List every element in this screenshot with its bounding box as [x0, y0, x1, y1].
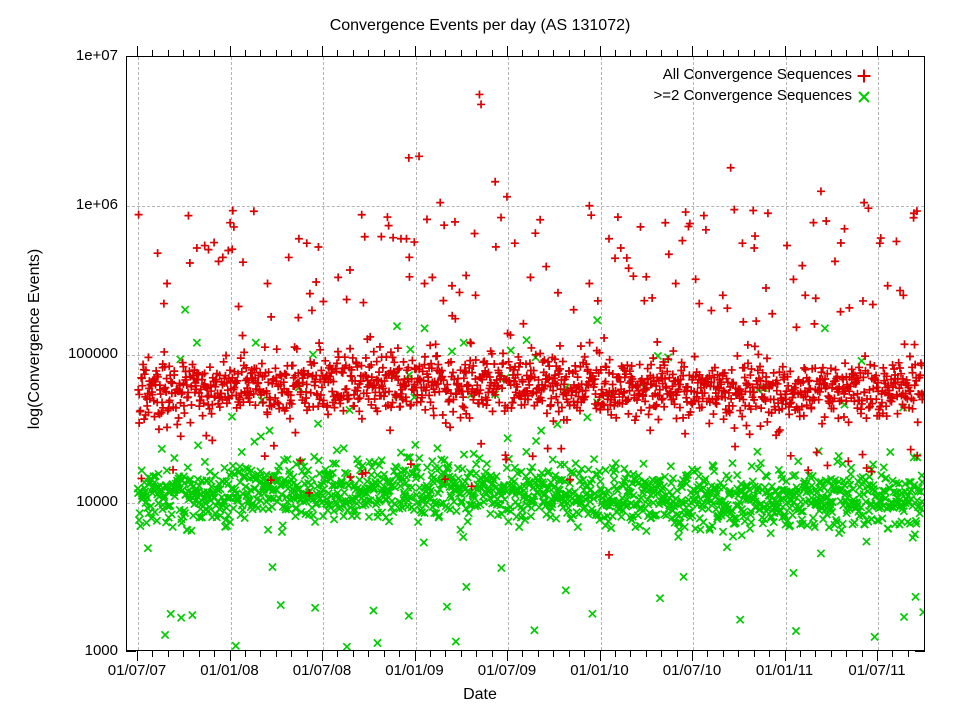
data-point-cross: [184, 464, 191, 471]
data-point-plus: [768, 310, 776, 318]
data-point-plus: [763, 418, 771, 426]
data-point-plus: [914, 418, 922, 426]
data-point-plus: [557, 445, 565, 453]
data-point-cross: [611, 476, 618, 483]
data-point-plus: [180, 409, 188, 417]
data-point-plus: [749, 207, 757, 215]
x-tick-minor: [553, 651, 554, 657]
data-point-plus: [436, 199, 444, 207]
data-point-plus: [629, 272, 637, 280]
x-tick-minor: [584, 651, 585, 657]
x-tick-minor: [183, 651, 184, 657]
y-tick-major: [126, 651, 136, 652]
data-point-plus: [869, 300, 877, 308]
data-point-plus: [415, 152, 423, 160]
x-tick-major: [507, 46, 508, 56]
data-point-plus: [812, 294, 820, 302]
x-tick-major: [785, 651, 786, 661]
data-point-plus: [785, 410, 793, 418]
data-point-plus: [606, 356, 614, 364]
data-point-plus: [489, 407, 497, 415]
x-tick-minor: [152, 651, 153, 657]
data-point-plus: [789, 275, 797, 283]
data-point-plus: [756, 422, 764, 430]
data-point-plus: [822, 217, 830, 225]
data-point-plus: [681, 430, 689, 438]
data-point-plus: [672, 280, 680, 288]
data-point-plus: [605, 551, 613, 559]
data-point-cross: [821, 325, 828, 332]
data-point-plus: [691, 353, 699, 361]
data-point-plus: [752, 317, 760, 325]
data-point-plus: [135, 211, 143, 219]
data-point-plus: [594, 297, 602, 305]
x-tick-major: [600, 46, 601, 56]
data-point-plus: [751, 232, 759, 240]
data-point-plus: [738, 239, 746, 247]
data-point-plus: [228, 245, 236, 253]
data-point-plus: [405, 154, 413, 162]
data-point-plus: [859, 297, 867, 305]
data-point-cross: [561, 461, 568, 468]
data-point-cross: [594, 317, 601, 324]
data-point-cross: [144, 545, 151, 552]
data-point-plus: [358, 415, 366, 423]
data-point-plus: [819, 364, 827, 372]
data-point-plus: [291, 429, 299, 437]
data-point-plus: [140, 415, 148, 423]
data-point-plus: [170, 367, 178, 375]
data-point-plus: [446, 423, 454, 431]
x-tick-major: [415, 46, 416, 56]
chart-legend: All Convergence Sequences >=2 Convergenc…: [560, 66, 900, 108]
data-point-plus: [736, 407, 744, 415]
data-point-plus: [400, 358, 408, 366]
data-point-plus: [267, 313, 275, 321]
data-point-cross: [863, 538, 870, 545]
data-point-cross: [178, 614, 185, 621]
data-point-plus: [514, 353, 522, 361]
data-point-cross: [792, 627, 799, 634]
data-point-plus: [317, 366, 325, 374]
x-tick-major: [137, 651, 138, 661]
data-point-cross: [412, 441, 419, 448]
data-point-cross: [182, 306, 189, 313]
y-tick-label: 1e+07: [0, 47, 118, 64]
x-tick-major: [600, 651, 601, 661]
x-tick-minor: [846, 651, 847, 657]
data-point-plus: [810, 320, 818, 328]
data-point-plus: [295, 235, 303, 243]
data-point-plus: [314, 243, 322, 251]
data-point-plus: [653, 338, 661, 346]
data-point-cross: [448, 348, 455, 355]
data-point-cross: [463, 583, 470, 590]
data-point-plus: [739, 396, 747, 404]
data-point-plus: [640, 297, 648, 305]
data-point-cross: [312, 604, 319, 611]
x-tick-minor: [353, 651, 354, 657]
data-point-plus: [801, 291, 809, 299]
data-point-cross: [279, 522, 286, 529]
data-point-cross: [314, 420, 321, 427]
x-tick-minor: [168, 651, 169, 657]
chart-title: Convergence Events per day (AS 131072): [0, 17, 960, 35]
data-point-cross: [746, 525, 753, 532]
data-point-cross: [602, 466, 609, 473]
data-point-plus: [258, 360, 266, 368]
x-tick-minor: [800, 651, 801, 657]
data-point-plus: [460, 404, 468, 412]
data-point-cross: [562, 587, 569, 594]
data-point-cross: [553, 515, 560, 522]
data-point-plus: [654, 415, 662, 423]
data-point-cross: [264, 526, 271, 533]
data-point-plus: [554, 289, 562, 297]
y-axis-label: log(Convergence Events): [26, 159, 44, 519]
data-point-plus: [911, 341, 919, 349]
data-point-cross: [748, 463, 755, 470]
data-point-plus: [742, 422, 750, 430]
data-point-plus: [636, 223, 644, 231]
data-point-plus: [499, 349, 507, 357]
data-point-plus: [379, 364, 387, 372]
data-point-plus: [226, 219, 234, 227]
data-point-plus: [355, 407, 363, 415]
data-point-plus: [841, 359, 849, 367]
data-point-plus: [682, 208, 690, 216]
x-tick-minor: [569, 651, 570, 657]
data-point-plus: [861, 352, 869, 360]
data-point-plus: [163, 280, 171, 288]
data-point-plus: [394, 344, 402, 352]
data-point-plus: [160, 348, 168, 356]
data-point-plus: [155, 425, 163, 433]
data-point-plus: [433, 352, 441, 360]
data-point-plus: [386, 426, 394, 434]
data-point-plus: [405, 273, 413, 281]
data-point-plus: [509, 399, 517, 407]
scatter-chart: Convergence Events per day (AS 131072) l…: [0, 0, 960, 720]
x-tick-minor: [307, 651, 308, 657]
data-point-plus: [428, 273, 436, 281]
data-point-plus: [136, 407, 144, 415]
data-point-cross: [738, 532, 745, 539]
data-point-cross: [729, 533, 736, 540]
data-point-plus: [559, 357, 567, 365]
data-point-cross: [590, 456, 597, 463]
data-point-plus: [750, 244, 758, 252]
data-points-layer: [127, 57, 925, 651]
data-point-cross: [504, 435, 511, 442]
data-point-plus: [143, 402, 151, 410]
data-point-cross: [767, 530, 774, 537]
data-point-cross: [343, 643, 350, 650]
data-point-cross: [333, 447, 340, 454]
data-point-plus: [628, 362, 636, 370]
data-point-plus: [585, 202, 593, 210]
data-point-plus: [396, 403, 404, 411]
data-point-cross: [719, 528, 726, 535]
data-point-plus: [321, 357, 329, 365]
data-point-plus: [346, 266, 354, 274]
data-point-cross: [252, 339, 259, 346]
data-point-plus: [792, 323, 800, 331]
data-point-plus: [705, 419, 713, 427]
data-point-cross: [221, 464, 228, 471]
data-point-cross: [385, 518, 392, 525]
data-point-plus: [229, 207, 237, 215]
data-point-plus: [614, 213, 622, 221]
data-point-cross: [885, 525, 892, 532]
data-point-cross: [754, 448, 761, 455]
data-point-plus: [187, 401, 195, 409]
data-point-cross: [464, 518, 471, 525]
data-point-plus: [731, 443, 739, 451]
data-point-plus: [611, 254, 619, 262]
data-point-cross: [835, 452, 842, 459]
data-point-plus: [840, 413, 848, 421]
data-point-plus: [358, 211, 366, 219]
data-point-plus: [605, 235, 613, 243]
data-point-plus: [762, 284, 770, 292]
x-tick-minor: [492, 651, 493, 657]
data-point-plus: [370, 348, 378, 356]
data-point-plus: [730, 424, 738, 432]
data-point-plus: [859, 451, 867, 459]
data-point-cross: [228, 413, 235, 420]
data-point-plus: [160, 300, 168, 308]
data-point-plus: [642, 273, 650, 281]
data-point-cross: [505, 518, 512, 525]
x-tick-minor: [260, 651, 261, 657]
data-point-cross: [230, 505, 237, 512]
data-point-plus: [492, 243, 500, 251]
data-point-plus: [700, 212, 708, 220]
data-point-plus: [516, 359, 524, 367]
data-point-plus: [545, 362, 553, 370]
data-point-plus: [306, 290, 314, 298]
data-point-plus: [570, 306, 578, 314]
data-point-cross: [365, 513, 372, 520]
data-point-plus: [208, 436, 216, 444]
data-point-plus: [303, 239, 311, 247]
data-point-cross: [597, 478, 604, 485]
data-point-plus: [175, 414, 183, 422]
x-tick-minor: [646, 651, 647, 657]
x-tick-minor: [384, 651, 385, 657]
data-point-cross: [194, 442, 201, 449]
data-point-plus: [738, 413, 746, 421]
data-point-plus: [678, 237, 686, 245]
data-point-plus: [168, 379, 176, 387]
data-point-cross: [452, 638, 459, 645]
data-point-plus: [402, 235, 410, 243]
data-point-cross: [158, 445, 165, 452]
data-point-cross: [138, 467, 145, 474]
data-point-cross: [523, 336, 530, 343]
data-point-plus: [390, 358, 398, 366]
data-point-plus: [439, 297, 447, 305]
data-point-plus: [449, 368, 457, 376]
data-point-cross: [725, 475, 732, 482]
data-point-plus: [817, 368, 825, 376]
data-point-plus: [901, 340, 909, 348]
x-tick-minor: [769, 651, 770, 657]
data-point-plus: [346, 345, 354, 353]
data-point-cross: [171, 454, 178, 461]
data-point-cross: [900, 613, 907, 620]
data-point-plus: [519, 320, 527, 328]
y-tick-label: 100000: [0, 345, 118, 362]
x-tick-minor: [476, 651, 477, 657]
data-point-cross: [135, 516, 142, 523]
data-point-plus: [319, 298, 327, 306]
data-point-cross: [397, 449, 404, 456]
data-point-plus: [831, 257, 839, 265]
data-point-plus: [308, 306, 316, 314]
x-tick-minor: [245, 651, 246, 657]
data-point-plus: [587, 211, 595, 219]
data-point-plus: [158, 398, 166, 406]
data-point-cross: [374, 639, 381, 646]
data-point-cross: [532, 437, 539, 444]
data-point-cross: [584, 414, 591, 421]
data-point-plus: [270, 442, 278, 450]
data-point-plus: [499, 359, 507, 367]
data-point-plus: [692, 275, 700, 283]
data-point-plus: [312, 278, 320, 286]
data-point-plus: [907, 446, 915, 454]
data-point-plus: [421, 280, 429, 288]
data-point-plus: [800, 364, 808, 372]
data-point-plus: [294, 314, 302, 322]
data-point-cross: [531, 627, 538, 634]
data-point-cross: [232, 642, 239, 649]
data-point-plus: [585, 280, 593, 288]
data-point-plus: [511, 239, 519, 247]
data-point-plus: [389, 353, 397, 361]
data-point-cross: [189, 612, 196, 619]
data-point-cross: [238, 448, 245, 455]
data-point-plus: [728, 366, 736, 374]
data-point-plus: [193, 244, 201, 252]
x-tick-minor: [815, 651, 816, 657]
x-tick-minor: [430, 651, 431, 657]
data-point-cross: [675, 533, 682, 540]
data-point-plus: [362, 354, 370, 362]
data-point-plus: [154, 249, 162, 257]
data-point-cross: [720, 483, 727, 490]
data-point-plus: [377, 233, 385, 241]
data-point-cross: [880, 464, 887, 471]
data-point-cross: [136, 510, 143, 517]
data-point-plus: [186, 259, 194, 267]
data-point-plus: [387, 348, 395, 356]
data-point-plus: [184, 212, 192, 220]
x-axis-label: Date: [0, 686, 960, 704]
data-point-cross: [887, 448, 894, 455]
data-point-plus: [707, 306, 715, 314]
data-point-plus: [827, 364, 835, 372]
data-point-plus: [744, 341, 752, 349]
data-point-plus: [354, 395, 362, 403]
data-point-plus: [219, 253, 227, 261]
data-point-plus: [138, 382, 146, 390]
data-point-cross: [640, 460, 647, 467]
data-point-plus: [543, 409, 551, 417]
x-tick-minor: [831, 651, 832, 657]
data-point-plus: [529, 452, 537, 460]
data-point-plus: [866, 361, 874, 369]
data-point-plus: [624, 410, 632, 418]
data-point-plus: [739, 318, 747, 326]
data-point-cross: [838, 526, 845, 533]
data-point-cross: [269, 563, 276, 570]
data-point-plus: [547, 395, 555, 403]
data-point-cross: [634, 512, 641, 519]
legend-entry-all-convergence-sequences: All Convergence Sequences: [560, 66, 900, 87]
plus-marker-icon: [856, 68, 872, 84]
data-point-cross: [516, 523, 523, 530]
y-tick-major: [915, 651, 925, 652]
x-tick-minor: [399, 651, 400, 657]
data-point-plus: [544, 358, 552, 366]
x-tick-minor: [445, 651, 446, 657]
data-point-cross: [266, 427, 273, 434]
data-point-cross: [443, 603, 450, 610]
data-point-cross: [589, 610, 596, 617]
data-point-cross: [277, 601, 284, 608]
data-point-plus: [331, 404, 339, 412]
data-point-plus: [631, 416, 639, 424]
data-point-plus: [451, 218, 459, 226]
data-point-plus: [809, 219, 817, 227]
data-point-plus: [503, 193, 511, 201]
data-point-cross: [507, 347, 514, 354]
data-point-plus: [783, 241, 791, 249]
data-point-plus: [442, 419, 450, 427]
data-point-cross: [723, 544, 730, 551]
data-point-cross: [309, 475, 316, 482]
data-point-plus: [527, 273, 535, 281]
data-point-plus: [661, 219, 669, 227]
data-point-plus: [862, 414, 870, 422]
y-tick-label: 1e+06: [0, 196, 118, 213]
data-point-plus: [623, 254, 631, 262]
data-point-plus: [201, 242, 209, 250]
data-point-plus: [713, 400, 721, 408]
data-point-plus: [459, 402, 467, 410]
data-point-plus: [477, 440, 485, 448]
data-point-cross: [680, 573, 687, 580]
data-point-plus: [896, 364, 904, 372]
x-tick-minor: [538, 651, 539, 657]
data-point-cross: [549, 456, 556, 463]
x-tick-minor: [337, 651, 338, 657]
data-point-cross: [190, 512, 197, 519]
data-point-plus: [206, 363, 214, 371]
data-point-plus: [617, 244, 625, 252]
x-tick-minor: [677, 651, 678, 657]
x-tick-minor: [522, 651, 523, 657]
data-point-cross: [414, 518, 421, 525]
data-point-cross: [920, 609, 925, 616]
data-point-plus: [316, 346, 324, 354]
data-point-plus: [383, 213, 391, 221]
data-point-plus: [906, 353, 914, 361]
data-point-plus: [625, 264, 633, 272]
